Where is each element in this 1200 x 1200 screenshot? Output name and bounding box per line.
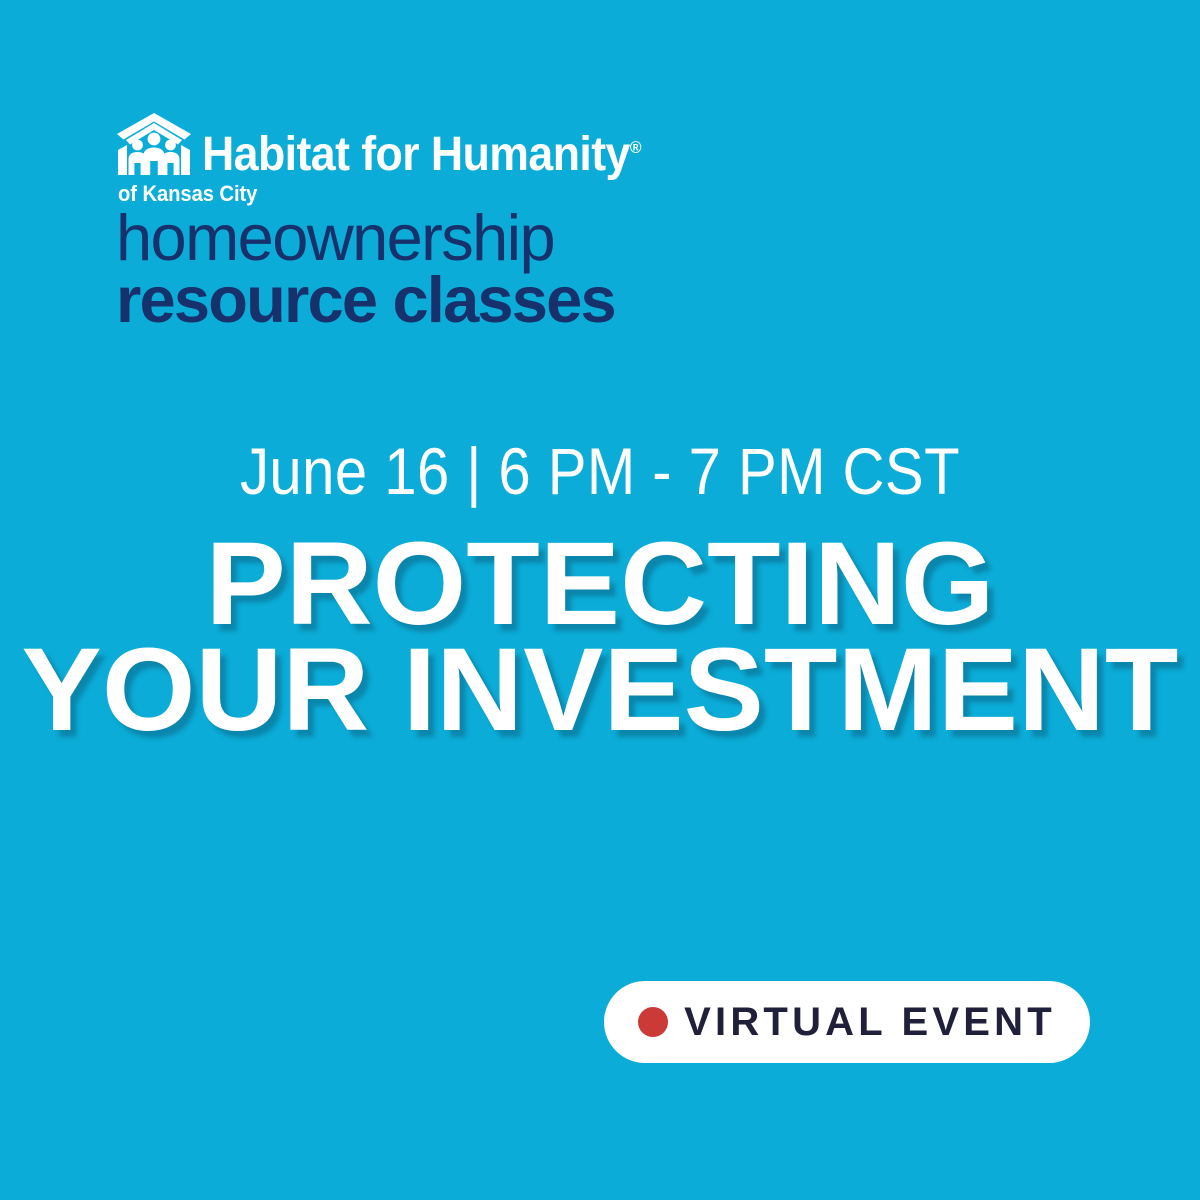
logo-wordmark-wrap: Habitat for Humanity® bbox=[202, 131, 675, 178]
habitat-wordmark-text: Habitat for Humanity bbox=[202, 128, 630, 181]
virtual-event-badge: VIRTUAL EVENT bbox=[604, 981, 1090, 1063]
live-red-dot-icon bbox=[638, 1007, 668, 1037]
virtual-event-label: VIRTUAL EVENT bbox=[684, 1002, 1056, 1042]
event-poster: Habitat for Humanity® of Kansas City hom… bbox=[0, 0, 1200, 1200]
affiliate-name: of Kansas City bbox=[118, 182, 687, 206]
headline-line-2: YOUR INVESTMENT bbox=[0, 636, 1200, 746]
event-datetime: June 16 | 6 PM - 7 PM CST bbox=[72, 438, 1128, 504]
brand-logo-block: Habitat for Humanity® of Kansas City hom… bbox=[116, 112, 736, 330]
event-headline: PROTECTING YOUR INVESTMENT bbox=[0, 530, 1200, 745]
habitat-house-people-icon bbox=[116, 112, 192, 176]
program-title: homeownership resource classes bbox=[116, 208, 736, 330]
registered-trademark-symbol: ® bbox=[630, 138, 642, 157]
habitat-logo-lockup: Habitat for Humanity® bbox=[116, 112, 736, 178]
program-title-line-2: resource classes bbox=[116, 270, 736, 330]
habitat-wordmark: Habitat for Humanity® bbox=[202, 131, 641, 178]
program-title-line-1: homeownership bbox=[116, 208, 736, 268]
